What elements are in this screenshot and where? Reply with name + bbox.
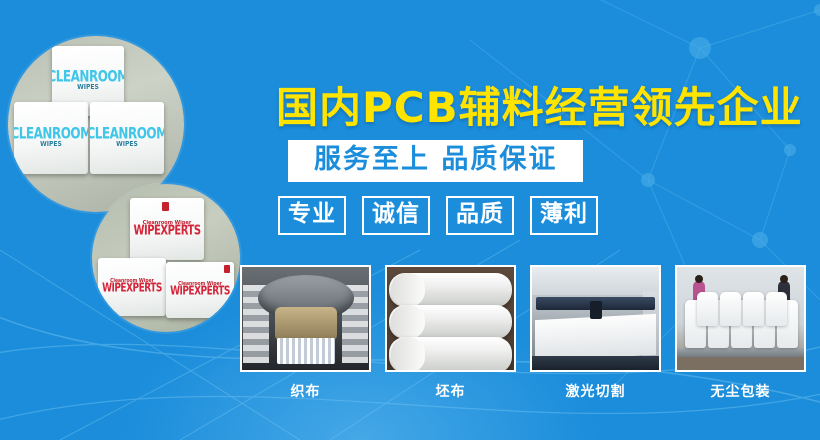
wipe-pack: Cleanroom Wiper WIPEXPERTS: [166, 262, 234, 318]
thumbnail-item[interactable]: 坯布: [385, 265, 516, 401]
wipe-pack: Cleanroom Wiper WIPEXPERTS: [98, 258, 166, 316]
cleanroom-packing-photo: [675, 265, 806, 372]
pack-sub-label: WIPES: [77, 85, 99, 92]
pack-brand-label: WIPEXPERTS: [102, 284, 162, 296]
pack-brand-label: CLEANROOM: [14, 125, 88, 141]
pack-brand-label: CLEANROOM: [52, 68, 124, 84]
thumbnail-item[interactable]: 激光切割: [530, 265, 661, 401]
pack-brand-label: WIPEXPERTS: [170, 287, 230, 299]
knitting-machine-photo: [240, 265, 371, 372]
thumbnail-caption: 无尘包装: [675, 381, 806, 401]
thumbnail-caption: 激光切割: [530, 381, 661, 401]
feature-tag-baoli: 薄利: [530, 196, 598, 235]
product-circle-wipexperts: Cleanroom Wiper WIPEXPERTS Cleanroom Wip…: [92, 184, 240, 332]
feature-tag-chengxin: 诚信: [362, 196, 430, 235]
process-thumbnail-strip: 织布 坯布 激光切割: [240, 265, 806, 401]
headline: 国内PCB辅料经营领先企业: [276, 74, 803, 135]
subtitle-text: 服务至上 品质保证: [314, 146, 557, 174]
wipexperts-photo: Cleanroom Wiper WIPEXPERTS Cleanroom Wip…: [92, 184, 240, 332]
fabric-rolls-photo: [385, 265, 516, 372]
feature-tag-zhuanye: 专业: [278, 196, 346, 235]
thumbnail-caption: 坯布: [385, 381, 516, 401]
wipe-pack: CLEANROOM WIPES: [14, 102, 88, 174]
promo-banner: CLEANROOM WIPES CLEANROOM WIPES CLEANROO…: [0, 0, 820, 440]
wipe-pack: CLEANROOM WIPES: [90, 102, 164, 174]
feature-tag-pinzhi: 品质: [446, 196, 514, 235]
laser-cutting-photo: [530, 265, 661, 372]
pack-brand-label: CLEANROOM: [90, 125, 164, 141]
pack-sub-label: WIPES: [40, 142, 62, 149]
pack-brand-label: WIPEXPERTS: [133, 226, 200, 240]
thumbnail-item[interactable]: 无尘包装: [675, 265, 806, 401]
pack-sub-label: WIPES: [116, 142, 138, 149]
wipe-pack: Cleanroom Wiper WIPEXPERTS: [130, 198, 204, 260]
thumbnail-item[interactable]: 织布: [240, 265, 371, 401]
thumbnail-caption: 织布: [240, 381, 371, 401]
feature-tag-list: 专业 诚信 品质 薄利: [278, 196, 598, 235]
red-seal-mark: [224, 265, 230, 273]
red-seal-mark: [162, 202, 169, 211]
subtitle-bar: 服务至上 品质保证: [288, 140, 583, 182]
